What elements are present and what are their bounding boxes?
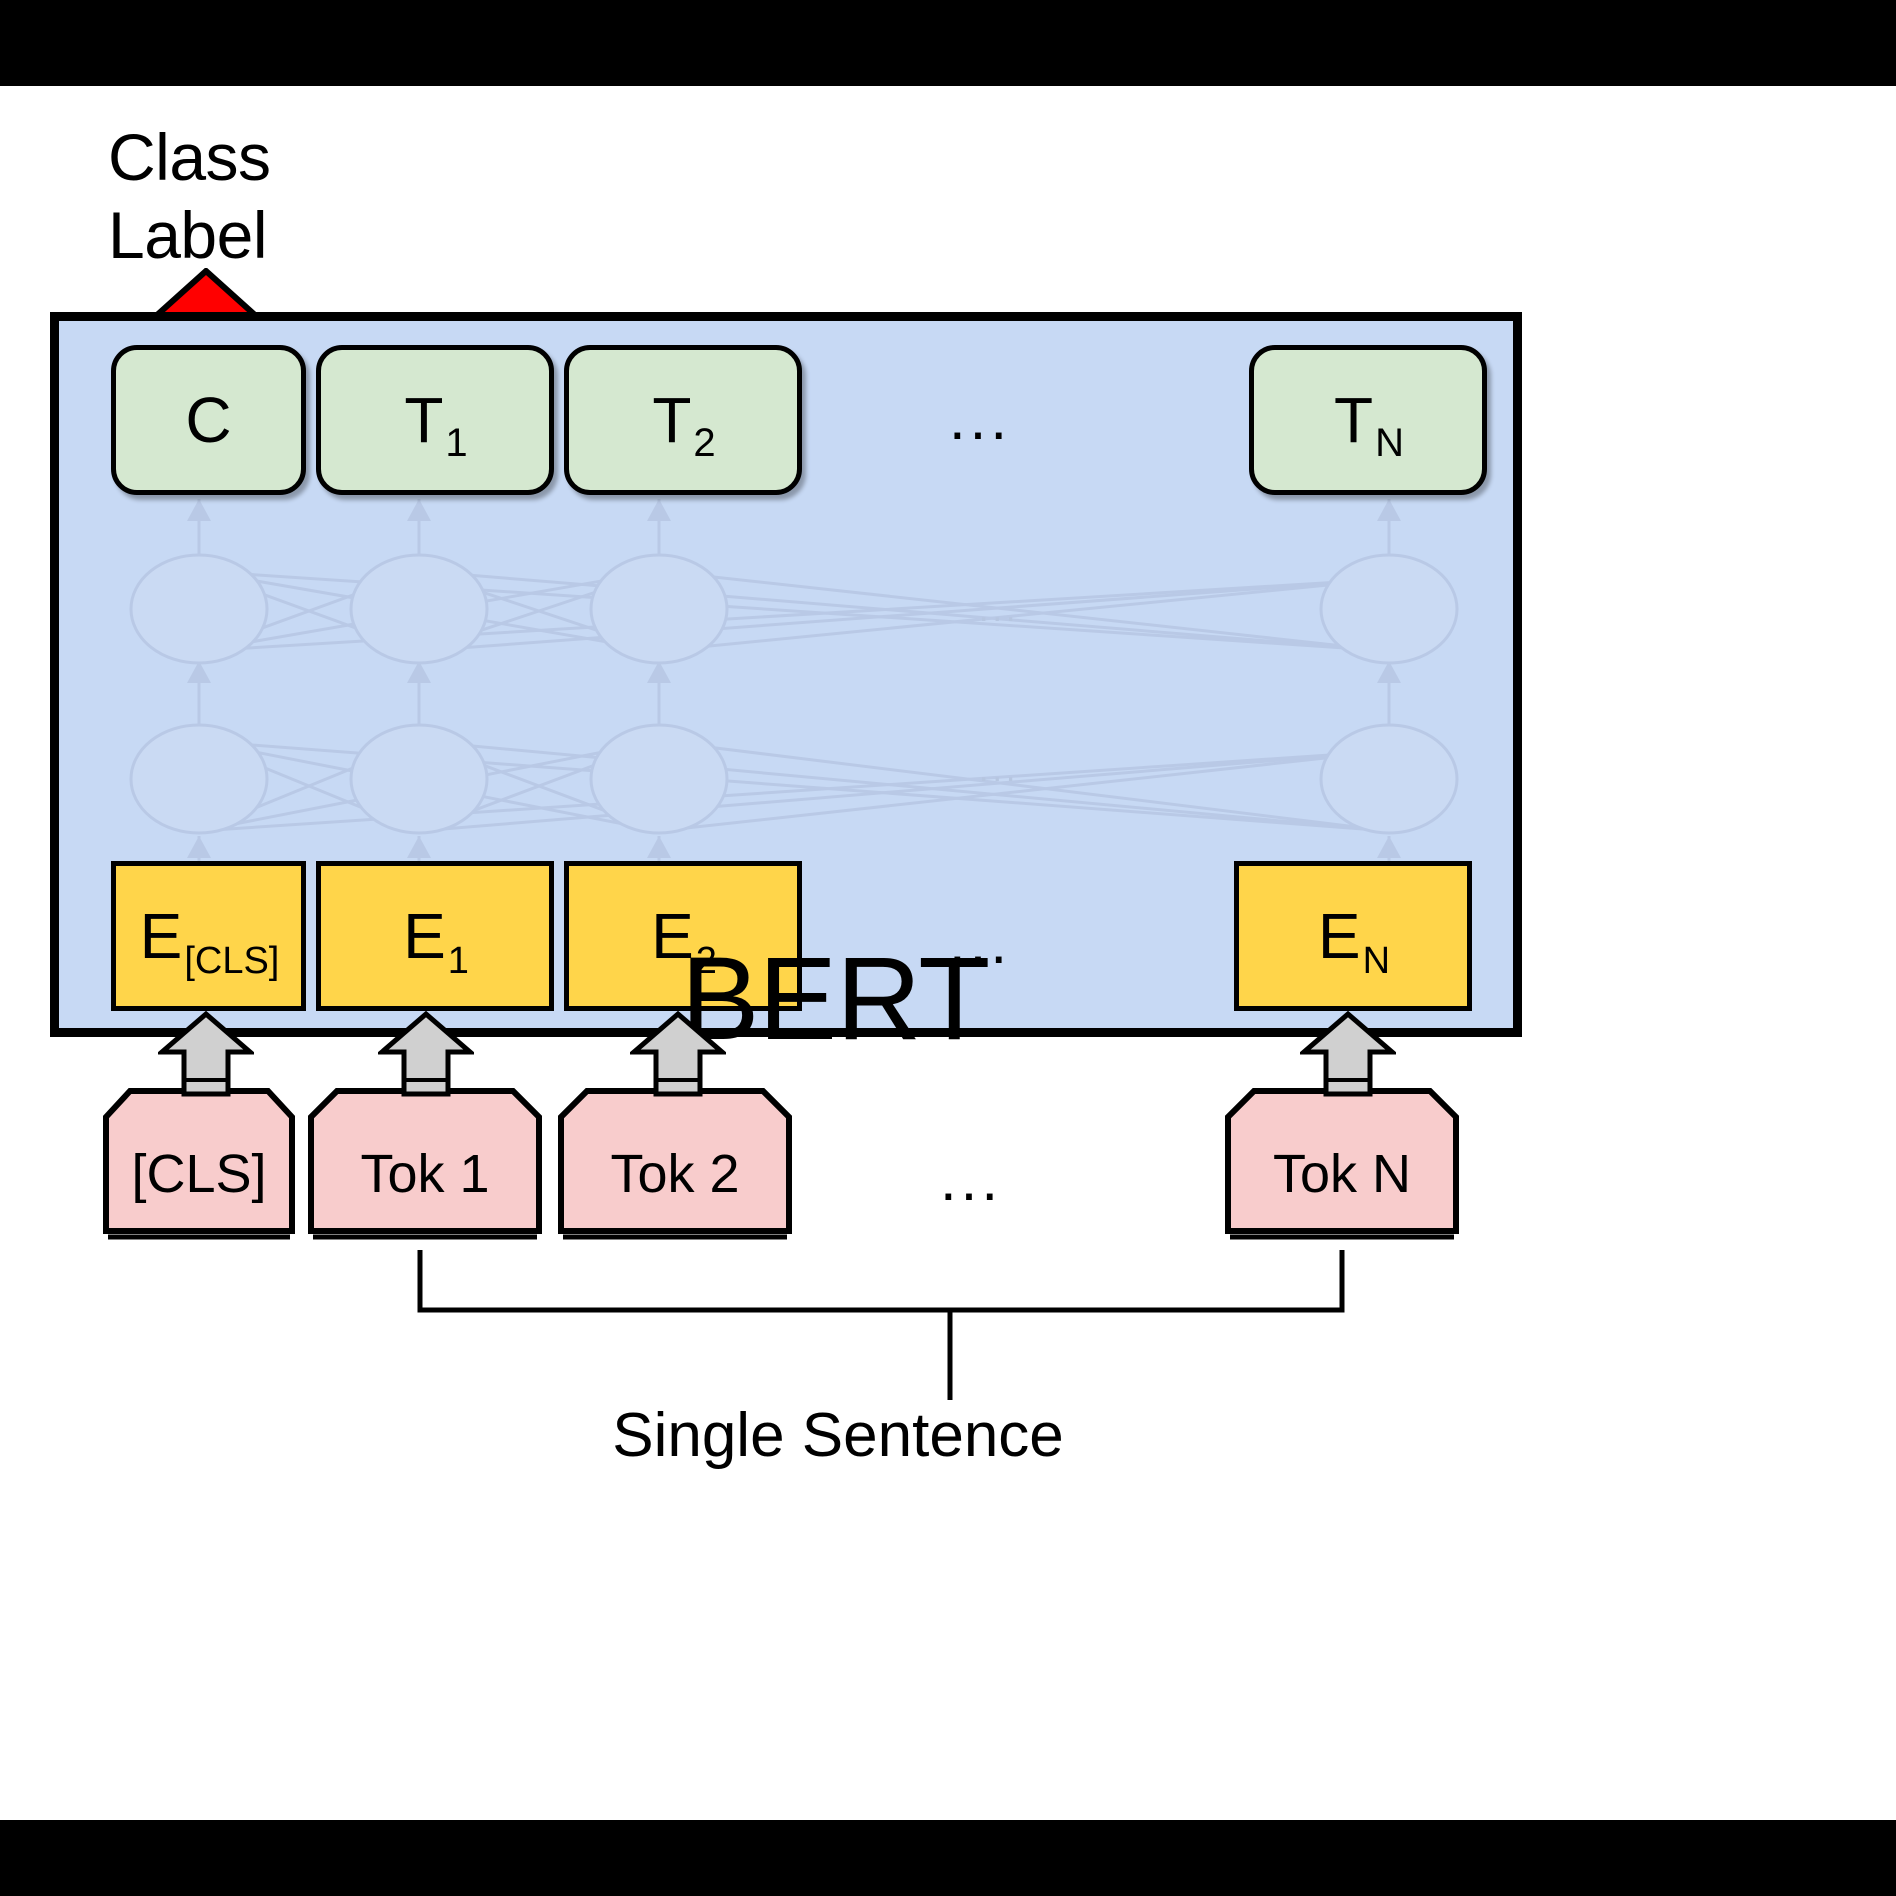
class-label-text: Class Label — [108, 118, 271, 274]
letterbox-bottom — [0, 1820, 1896, 1896]
gray-up-arrow-icon-cls — [158, 1010, 254, 1098]
bert-title-text: BERT — [681, 933, 990, 1065]
gray-up-arrow-icon-tokn — [1300, 1010, 1396, 1098]
output-token-T1-label: T1 — [404, 388, 465, 452]
output-token-row: C T1 T2 TN — [59, 345, 1531, 500]
output-token-TN-label: TN — [1334, 388, 1402, 452]
input-token-cls[interactable]: [CLS] — [100, 1085, 298, 1245]
network-ellipsis-lower: ... — [979, 753, 1019, 787]
gray-up-arrow-icon-tok1 — [378, 1010, 474, 1098]
input-token-tokn-label: Tok N — [1222, 1085, 1462, 1237]
sentence-bracket — [0, 1240, 1896, 1430]
output-token-TN[interactable]: TN — [1249, 345, 1487, 495]
output-token-T2-label: T2 — [652, 388, 713, 452]
input-token-tok1[interactable]: Tok 1 — [305, 1085, 545, 1245]
gray-up-arrow-icon-tok2 — [630, 1010, 726, 1098]
network-ellipsis-upper: ... — [979, 593, 1019, 627]
input-token-tok2-label: Tok 2 — [555, 1085, 795, 1237]
input-token-tok1-label: Tok 1 — [305, 1085, 545, 1237]
bert-encoder-box: BERT C T1 T2 TN ... ... ... E[CLS] — [50, 312, 1522, 1037]
figure-root: Class Label — [0, 0, 1896, 1896]
output-row-ellipsis: ... — [949, 389, 1011, 449]
input-token-cls-label: [CLS] — [100, 1085, 298, 1237]
input-token-tokn[interactable]: Tok N — [1222, 1085, 1462, 1245]
letterbox-top — [0, 0, 1896, 86]
output-token-T1[interactable]: T1 — [316, 345, 554, 495]
input-token-tok2[interactable]: Tok 2 — [555, 1085, 795, 1245]
input-row-ellipsis: ... — [940, 1150, 1002, 1210]
output-token-T2[interactable]: T2 — [564, 345, 802, 495]
output-token-C[interactable]: C — [111, 345, 306, 495]
output-token-C-label: C — [185, 388, 231, 452]
